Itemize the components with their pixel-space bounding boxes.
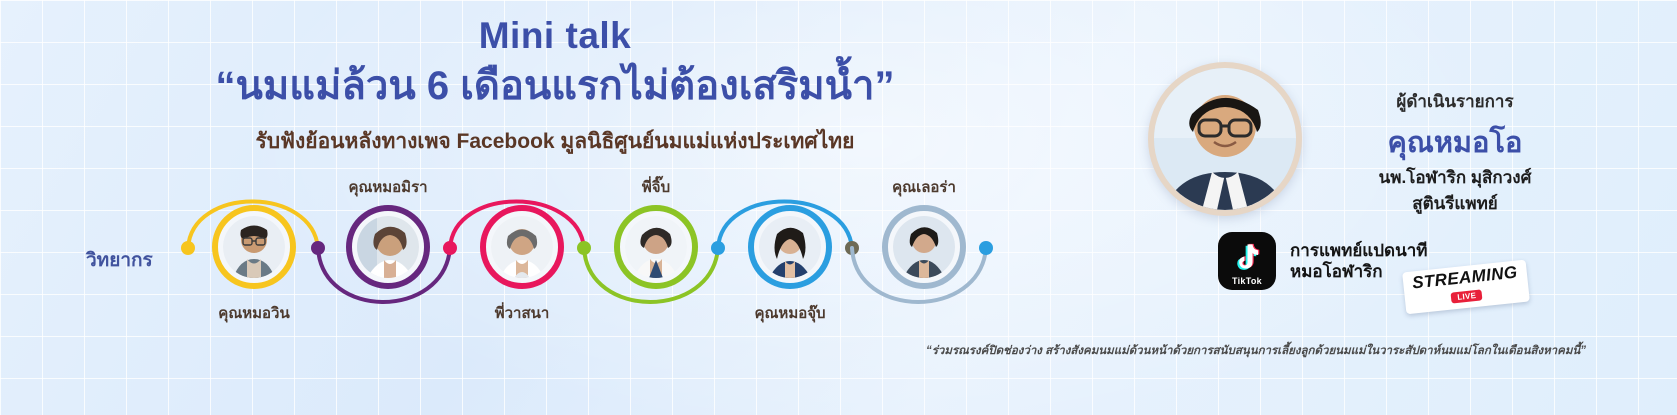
tiktok-wordmark: TikTok — [1218, 276, 1276, 286]
speaker-card[interactable]: คุณหมอมิรา — [346, 205, 430, 289]
speaker-card[interactable]: คุณเลอร่า — [882, 205, 966, 289]
speaker-card[interactable]: พี่จิ๊บ — [614, 205, 698, 289]
speaker-photo — [625, 216, 687, 278]
footer-campaign-note: “ร่วมรณรงค์ปิดช่องว่าง สร้างสังคมนมแม่ด้… — [846, 342, 1666, 360]
speaker-photo — [893, 216, 955, 278]
avatar — [614, 205, 698, 289]
avatar — [748, 205, 832, 289]
speaker-name: คุณหมอวิน — [218, 301, 289, 325]
avatar — [346, 205, 430, 289]
speaker-name: พี่วาสนา — [495, 301, 550, 325]
speaker-photo — [491, 216, 553, 278]
speaker-name: คุณเลอร่า — [892, 175, 956, 199]
speaker-photo — [759, 216, 821, 278]
avatar — [212, 205, 296, 289]
talk-subtitle: รับฟังย้อนหลังทางเพจ Facebook มูลนิธิศูน… — [0, 125, 1110, 158]
tiktok-channel-line-1: การแพทย์แปดนาที — [1290, 240, 1427, 261]
talk-quote: “นมแม่ล้วน 6 เดือนแรกไม่ต้องเสริมน้ำ” — [0, 61, 1110, 111]
poster-canvas: Mini talk “นมแม่ล้วน 6 เดือนแรกไม่ต้องเส… — [0, 0, 1677, 415]
host-photo — [1154, 68, 1296, 210]
tiktok-icon[interactable]: TikTok — [1218, 232, 1276, 290]
speaker-photo — [357, 216, 419, 278]
live-badge: LIVE — [1451, 289, 1483, 303]
host-avatar-frame — [1148, 62, 1302, 216]
header-block: Mini talk “นมแม่ล้วน 6 เดือนแรกไม่ต้องเส… — [0, 16, 1110, 158]
tiktok-channel-row[interactable]: TikTok การแพทย์แปดนาที หมอโอฬาริก — [1218, 232, 1427, 290]
speaker-card[interactable]: คุณหมอวิน — [212, 205, 296, 289]
speaker-photo — [223, 216, 285, 278]
host-full-name: นพ.โอฬาริก มุสิกวงศ์ — [1290, 167, 1620, 190]
speaker-name: คุณหมอมิรา — [348, 175, 427, 199]
host-specialty: สูตินรีแพทย์ — [1290, 190, 1620, 217]
speaker-card[interactable]: คุณหมอจุ๊บ — [748, 205, 832, 289]
speaker-card[interactable]: พี่วาสนา — [480, 205, 564, 289]
host-nickname: คุณหมอโอ — [1290, 119, 1620, 165]
speaker-name: คุณหมอจุ๊บ — [754, 301, 825, 325]
speaker-name: พี่จิ๊บ — [642, 175, 670, 199]
host-info: ผู้ดำเนินรายการ คุณหมอโอ นพ.โอฬาริก มุสิ… — [1290, 88, 1620, 217]
page-title: Mini talk — [0, 16, 1110, 57]
avatar — [480, 205, 564, 289]
host-role-label: ผู้ดำเนินรายการ — [1290, 88, 1620, 115]
avatar — [882, 205, 966, 289]
